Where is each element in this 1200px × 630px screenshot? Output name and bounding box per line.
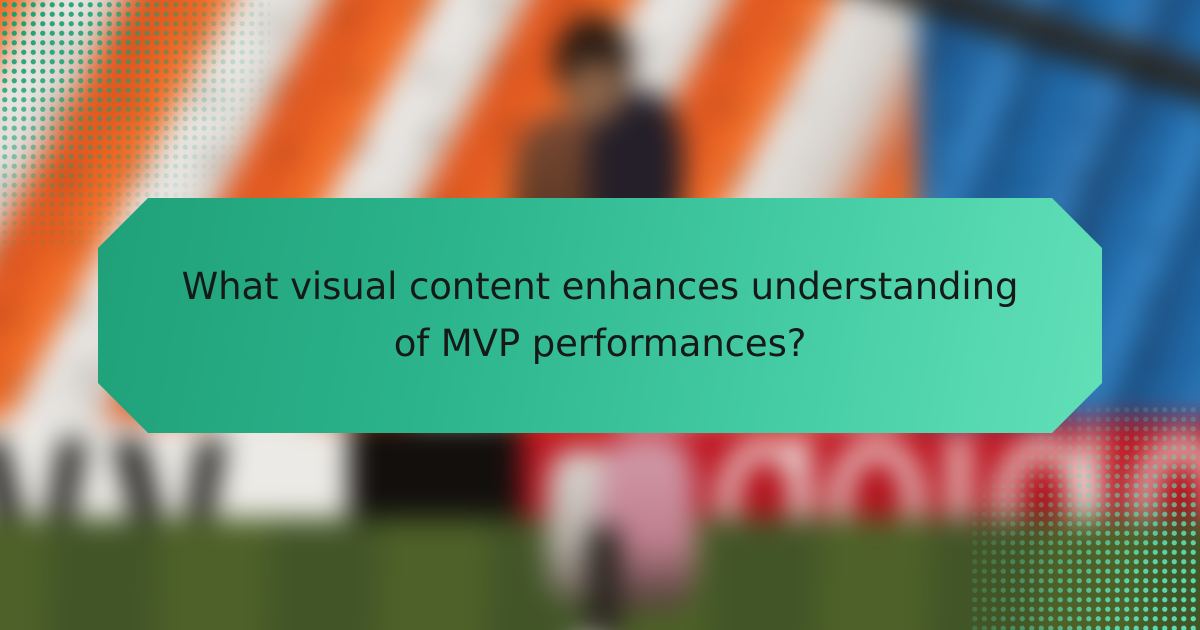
- headline-banner: What visual content enhances understandi…: [98, 198, 1102, 433]
- player-face: [566, 60, 624, 122]
- social-card: What visual content enhances understandi…: [0, 0, 1200, 630]
- player-leg-shadow: [587, 525, 621, 630]
- headline-text: What visual content enhances understandi…: [98, 259, 1102, 371]
